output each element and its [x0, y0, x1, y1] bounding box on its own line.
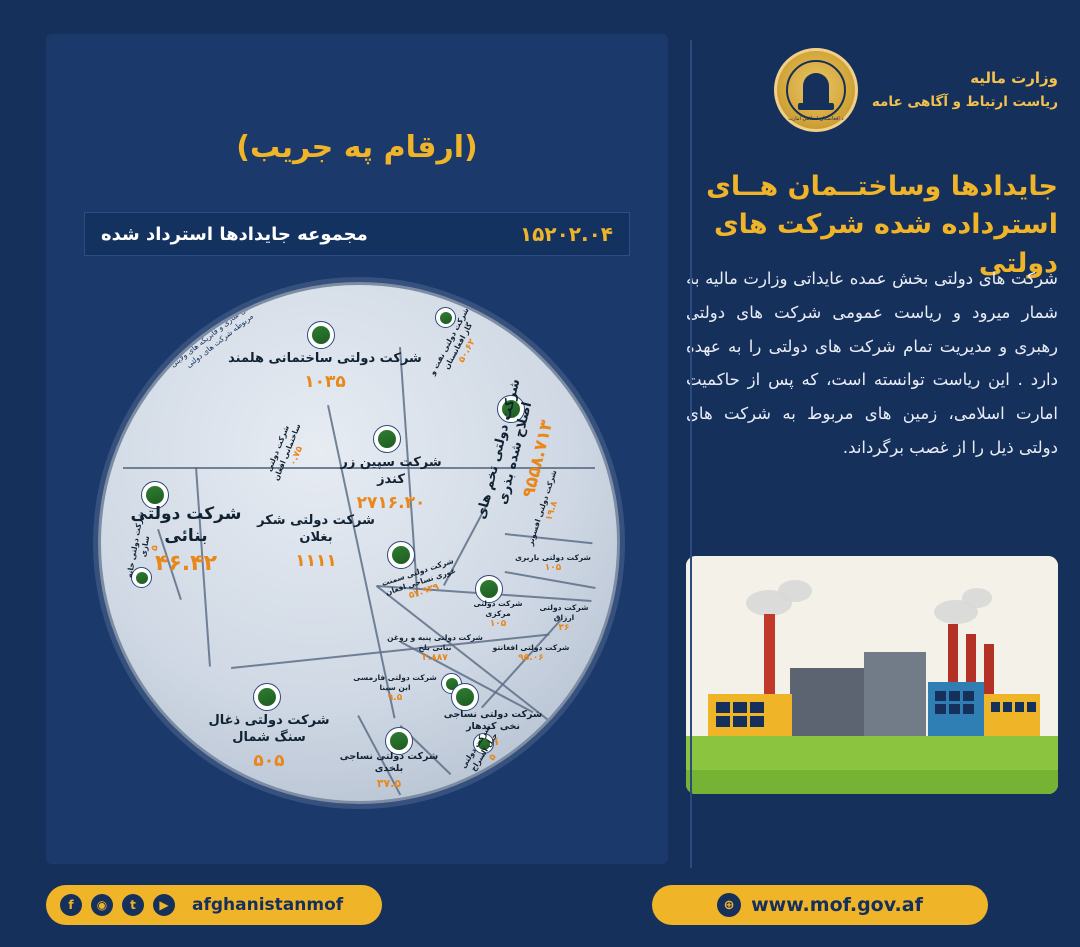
website-bar[interactable]: ⊕ www.mof.gov.af: [652, 885, 988, 925]
plot-spinzar-kunduz: شرکت سپین زر کندز ۲۷۱۶.۳۰: [337, 455, 445, 514]
summary-label: مجموعه جایدادها استرداد شده: [101, 224, 368, 245]
window-shape: [991, 702, 1000, 712]
chart-title: (ارقام په جریب): [46, 130, 668, 165]
smoke-cloud-icon: [778, 580, 812, 602]
window-shape: [963, 704, 974, 714]
ministry-line2: ریاست ارتباط و آگاهی عامه: [872, 91, 1058, 114]
globe-icon: ⊕: [717, 893, 741, 917]
plot-value: ۱۱۱۱: [257, 550, 375, 572]
plot-value: ۳۷.۵: [333, 777, 445, 791]
plot-baghlan-sugar: شرکت دولتی شکر بغلان ۱۱۱۱: [257, 513, 375, 572]
infographic-page: وزارت مالیه ریاست ارتباط و آگاهی عامه د …: [0, 0, 1080, 947]
plot-value: ۱۰۵: [463, 619, 533, 631]
badge-emblem-icon: [390, 732, 408, 750]
treemap-circle-wrapper: شرکت دولتی ساختمانی هلمند ۱۰۳۵ شرکت دولت…: [90, 270, 624, 830]
plot-value: ۹۵.۰۶: [491, 653, 571, 665]
facebook-icon[interactable]: f: [60, 894, 82, 916]
plot-barbari: شرکت دولتی باربری ۱۰۵: [515, 553, 591, 574]
headline-line1: جایدادها وساختــمان هــای: [686, 168, 1058, 206]
emblem-caption: د افغانستان اسلامي امارت: [777, 116, 855, 122]
window-shape: [935, 704, 946, 714]
window-grid: [935, 691, 974, 714]
company-badge-spinzar: [373, 425, 401, 453]
website-url[interactable]: www.mof.gov.af: [751, 894, 923, 916]
chart-panel: (ارقام په جریب) ۱۵۲۰۲.۰۴ مجموعه جایدادها…: [46, 34, 668, 864]
window-shape: [750, 716, 764, 727]
window-shape: [733, 702, 747, 713]
summary-bar: ۱۵۲۰۲.۰۴ مجموعه جایدادها استرداد شده: [84, 212, 630, 256]
emblem-base-shape: [798, 103, 834, 110]
ministry-line1: وزارت مالیه: [872, 66, 1058, 92]
plot-value: ۲۷۱۶.۳۰: [337, 492, 445, 514]
factory-illustration: [686, 556, 1058, 794]
office-building-shape: [708, 694, 792, 740]
emblem-mihrab-shape: [803, 73, 829, 107]
plot-afghan-construction: شرکت دولتی ساختمانی افغان ۰.۷۵: [258, 409, 318, 497]
window-grid: [991, 702, 1036, 712]
plot-helmand-construction: شرکت دولتی ساختمانی هلمند ۱۰۳۵: [219, 351, 431, 393]
plot-label: شرکت دولتی افغانتو: [491, 643, 571, 653]
plot-value: ۲.۸۸۷: [383, 653, 487, 665]
social-handle: afghanistanmof: [192, 895, 343, 915]
plot-arzaq: شرکت دولتی ارزاق ۳۶: [533, 603, 595, 634]
window-shape: [949, 691, 960, 701]
youtube-icon[interactable]: ▶: [153, 894, 175, 916]
ministry-header: وزارت مالیه ریاست ارتباط و آگاهی عامه د …: [774, 48, 1058, 132]
window-shape: [733, 716, 747, 727]
plot-label: شرکت دولتی ارزاق: [533, 603, 595, 623]
company-badge-helmand: [307, 321, 335, 349]
smoke-cloud-icon: [962, 588, 992, 608]
window-shape: [963, 691, 974, 701]
plot-markazi: شرکت دولتی مرکزی ۱۰۵: [463, 599, 533, 630]
plot-label: شرکت دولتی پنبه و روغن نباتی بلخ: [383, 633, 487, 653]
plot-ibn-sina-pharmacy: شرکت دولتی فارمسی ابن سینا ۹.۵: [349, 673, 441, 704]
plot-label: شرکت دولتی شکر بغلان: [257, 513, 375, 547]
plot-value: ۱۰۵: [515, 563, 591, 575]
plot-value: ۵۰۵: [201, 750, 337, 772]
plot-label: شرکت سپین زر کندز: [337, 455, 445, 489]
plot-ghori-cement-afghan-textile: شرکت دولتی سمنت غوری نساجی افغان ۵۷.۹۳۹: [371, 553, 472, 612]
badge-emblem-icon: [480, 580, 498, 598]
badge-emblem-icon: [456, 688, 474, 706]
window-shape: [750, 702, 764, 713]
window-shape: [949, 704, 960, 714]
plot-label: شرکت دولتی نساجی بلخدی: [333, 751, 445, 776]
window-shape: [1003, 702, 1012, 712]
social-bar[interactable]: f ◉ t ▶ afghanistanmof: [46, 885, 382, 925]
badge-emblem-icon: [378, 430, 396, 448]
plant-building-shape: [928, 682, 984, 738]
window-shape: [716, 716, 730, 727]
plot-value: ۹.۵: [349, 693, 441, 705]
badge-emblem-icon: [312, 326, 330, 344]
company-badge-kandahar-textile: [451, 683, 479, 711]
company-badge-ghori-cement: [387, 541, 415, 569]
twitter-icon[interactable]: t: [122, 894, 144, 916]
plot-label: شرکت دولتی مرکزی: [463, 599, 533, 619]
plot-value: ۳۶: [533, 623, 595, 635]
badge-emblem-icon: [440, 312, 452, 324]
company-badge-north-coal: [253, 683, 281, 711]
summary-value: ۱۵۲۰۲.۰۴: [520, 222, 613, 246]
window-shape: [935, 691, 946, 701]
plot-balkhdi-textile: شرکت دولتی نساجی بلخدی ۳۷.۵: [333, 751, 445, 791]
treemap-circle: شرکت دولتی ساختمانی هلمند ۱۰۳۵ شرکت دولت…: [98, 282, 620, 804]
illustration-ground-shadow: [686, 770, 1058, 794]
window-grid: [716, 702, 764, 727]
body-paragraph: شرکت های دولتی بخش عمده عایداتی وزارت ما…: [686, 262, 1058, 465]
plot-afghantu: شرکت دولتی افغانتو ۹۵.۰۶: [491, 643, 571, 664]
badge-emblem-icon: [146, 486, 164, 504]
office-building-shape: [984, 694, 1040, 738]
window-shape: [1027, 702, 1036, 712]
plot-label: شرکت دولتی ساختمانی هلمند: [219, 351, 431, 368]
factory-building-shape: [864, 652, 926, 736]
plot-value: ۱۰۳۵: [219, 371, 431, 393]
window-shape: [1015, 702, 1024, 712]
plot-balkh-cotton-oil: شرکت دولتی پنبه و روغن نباتی بلخ ۲.۸۸۷: [383, 633, 487, 664]
plot-label: شرکت دولتی ذغال سنگ شمال: [201, 713, 337, 747]
window-shape: [716, 702, 730, 713]
ministry-name-block: وزارت مالیه ریاست ارتباط و آگاهی عامه: [872, 66, 1058, 114]
plot-label: شرکت دولتی باربری: [515, 553, 591, 563]
info-column: وزارت مالیه ریاست ارتباط و آگاهی عامه د …: [675, 0, 1080, 880]
vertical-divider: [690, 40, 692, 868]
plot-north-coal: شرکت دولتی ذغال سنگ شمال ۵۰۵: [201, 713, 337, 772]
badge-emblem-icon: [258, 688, 276, 706]
instagram-icon[interactable]: ◉: [91, 894, 113, 916]
factory-building-shape: [790, 668, 864, 736]
ministry-emblem-icon: د افغانستان اسلامي امارت: [774, 48, 858, 132]
plot-label: شرکت دولتی فارمسی ابن سینا: [349, 673, 441, 693]
badge-emblem-icon: [392, 546, 410, 564]
